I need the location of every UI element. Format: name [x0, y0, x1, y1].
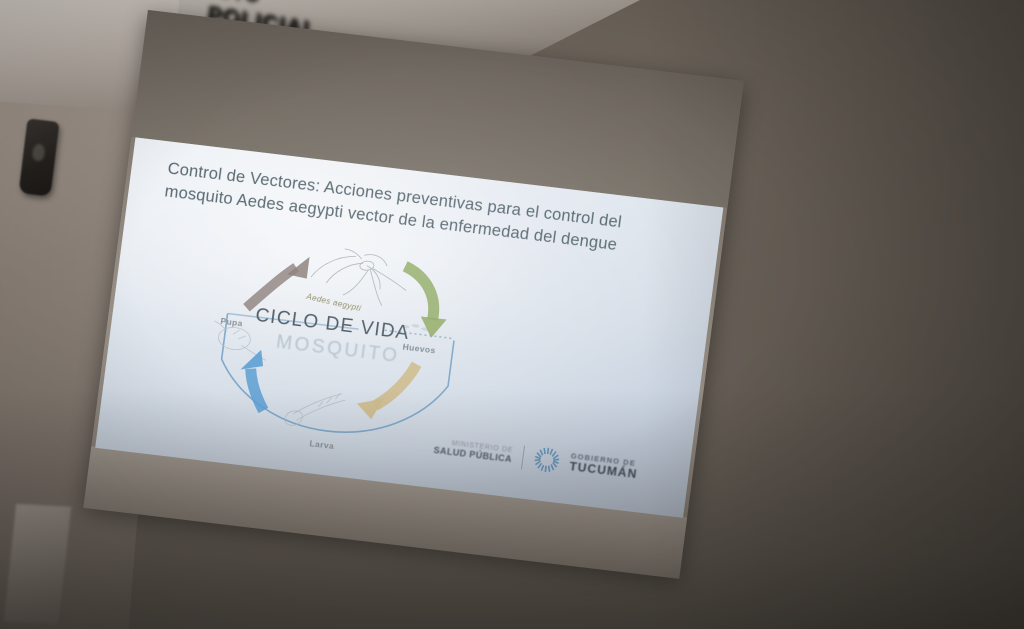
wall-bottom-shadow: [0, 389, 1024, 629]
room-photo: INSTITUTO POLICIAL Control de Vectores: …: [0, 0, 1024, 629]
